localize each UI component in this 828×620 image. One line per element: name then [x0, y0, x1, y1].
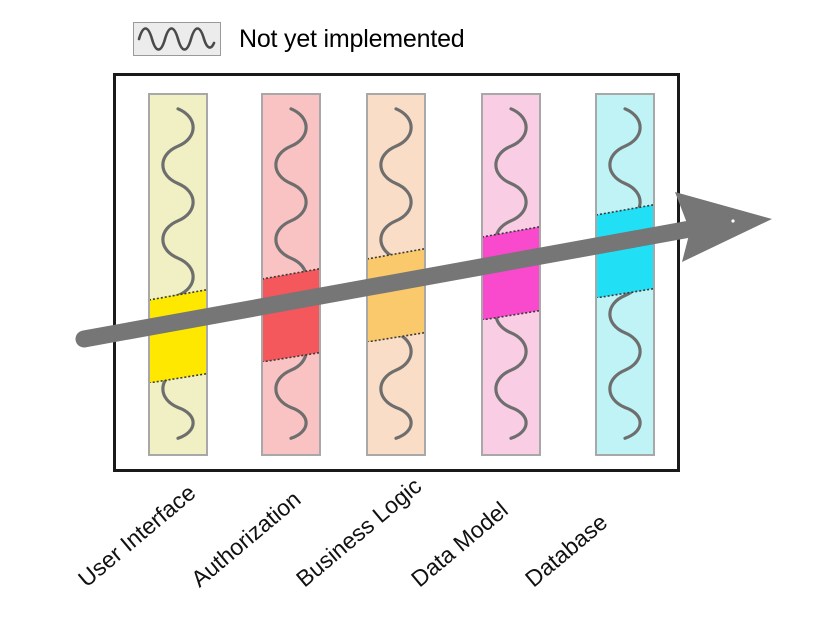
axis-label-5: Database [520, 509, 613, 593]
layer-column-4[interactable] [481, 93, 541, 456]
implemented-band-5[interactable] [595, 203, 655, 287]
implemented-band-3[interactable] [366, 247, 426, 331]
diagram-frame [113, 73, 680, 472]
axis-label-4: Data Model [406, 496, 513, 592]
band-shape [595, 203, 655, 298]
implemented-band-2[interactable] [261, 267, 321, 351]
layer-column-1[interactable] [148, 93, 208, 456]
legend-label: Not yet implemented [239, 25, 464, 54]
implemented-band-4[interactable] [481, 225, 541, 309]
axis-label-3: Business Logic [291, 473, 427, 593]
layer-column-5[interactable] [595, 93, 655, 456]
implemented-band-1[interactable] [148, 288, 208, 372]
band-shape [261, 267, 321, 362]
axis-label-1: User Interface [73, 479, 201, 593]
layer-column-2[interactable] [261, 93, 321, 456]
band-shape [481, 225, 541, 320]
axis-label-2: Authorization [186, 486, 306, 593]
legend: Not yet implemented [133, 22, 464, 56]
band-shape [366, 247, 426, 342]
layer-column-3[interactable] [366, 93, 426, 456]
wave-pattern-icon [150, 95, 206, 454]
diagram-canvas: Not yet implemented User InterfaceAuthor… [0, 0, 828, 620]
band-shape [148, 288, 208, 383]
wave-pattern-swatch-icon [133, 22, 221, 56]
